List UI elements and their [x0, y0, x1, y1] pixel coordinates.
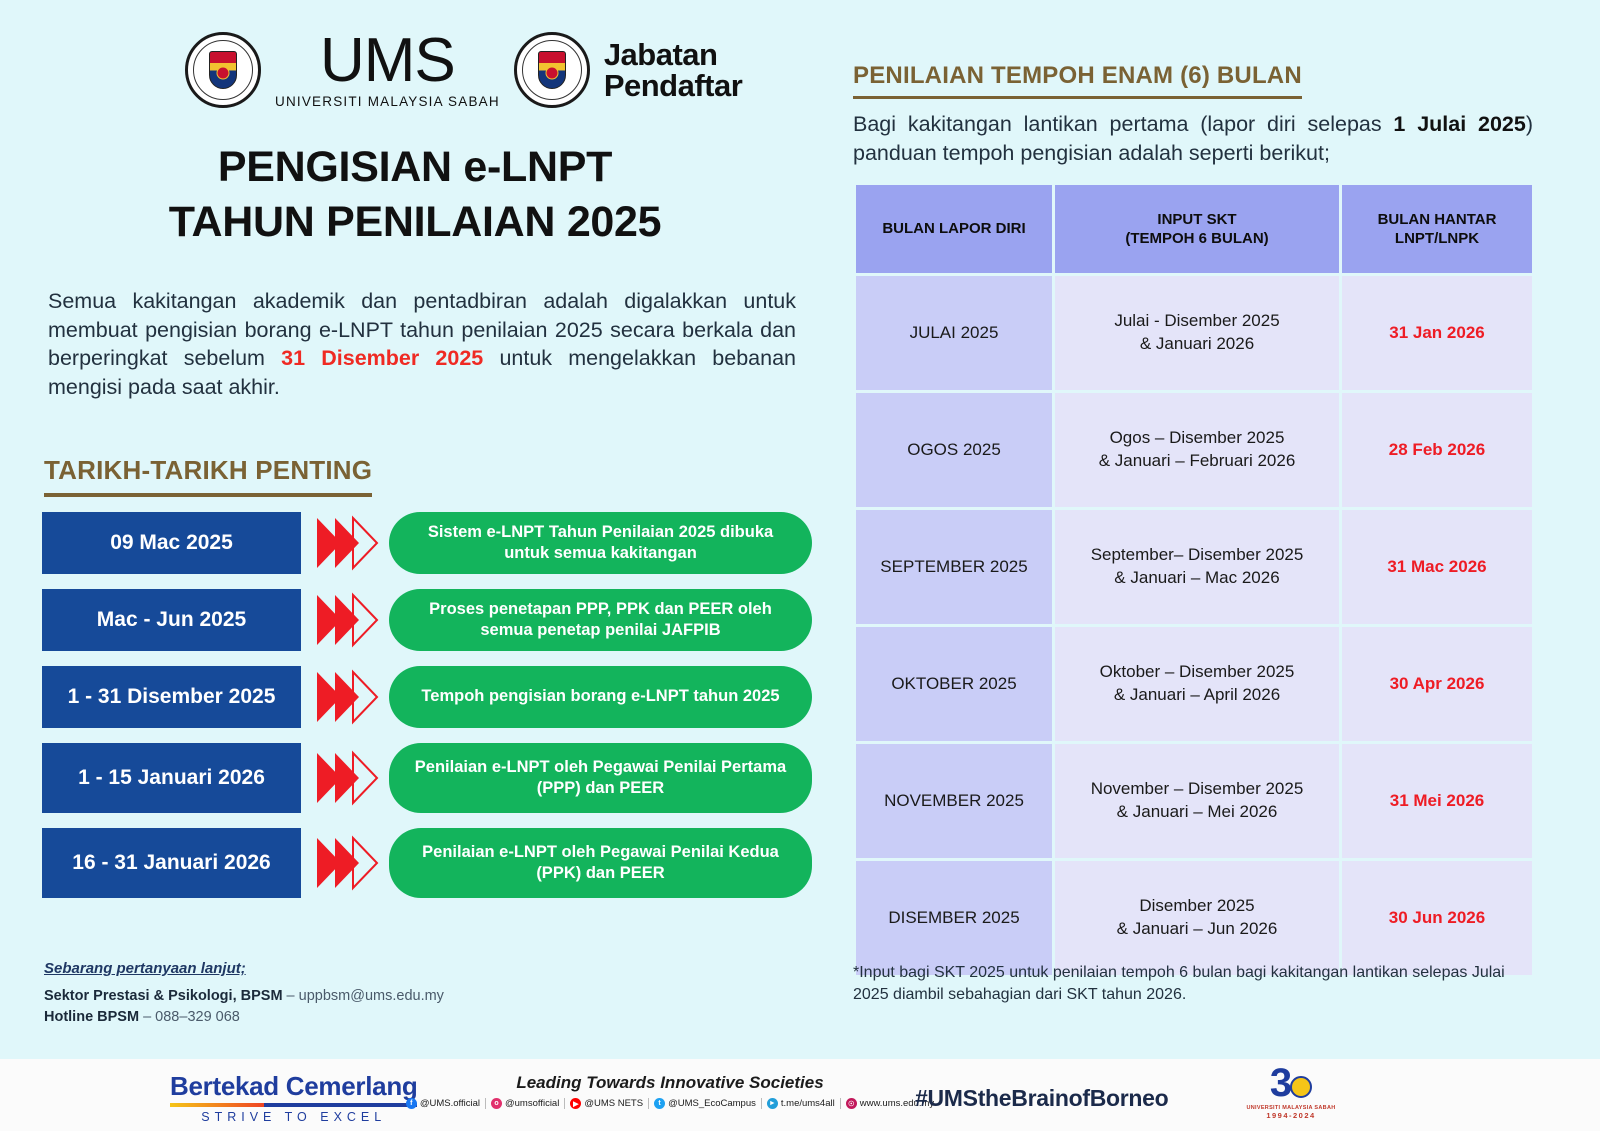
cell-skt-line2: & Januari – Mac 2026: [1065, 567, 1329, 590]
table-header: BULAN LAPOR DIRI INPUT SKT (TEMPOH 6 BUL…: [856, 185, 1532, 273]
intro-highlight-date: 31 Disember 2025: [281, 346, 483, 370]
ums-crest-icon: [185, 32, 261, 108]
timeline-row: 1 - 31 Disember 2025 Tempoh pengisian bo…: [42, 666, 812, 728]
table-row: DISEMBER 2025 Disember 2025 & Januari – …: [856, 861, 1532, 975]
social-item-instagram[interactable]: o @umsofficial: [486, 1098, 565, 1109]
chevron-arrow-icon: [315, 592, 383, 648]
table-row: SEPTEMBER 2025 September– Disember 2025 …: [856, 510, 1532, 624]
website-icon: ☉: [846, 1098, 857, 1109]
jabatan-wordmark: Jabatan Pendaftar: [604, 39, 742, 101]
social-item-youtube[interactable]: ▶ @UMS NETS: [565, 1098, 649, 1109]
cell-skt-line2: & Januari 2026: [1065, 333, 1329, 356]
cell-bulan-lapor: OKTOBER 2025: [856, 627, 1052, 741]
cell-bulan-lapor: NOVEMBER 2025: [856, 744, 1052, 858]
cell-skt-line2: & Januari – April 2026: [1065, 684, 1329, 707]
globe-icon: [1290, 1076, 1312, 1098]
cell-skt-line1: November – Disember 2025: [1065, 778, 1329, 801]
cell-bulan-lapor: JULAI 2025: [856, 276, 1052, 390]
table-header-cell-input-skt: INPUT SKT (TEMPOH 6 BULAN): [1055, 185, 1339, 273]
timeline-date-box: 16 - 31 Januari 2026: [42, 828, 301, 898]
timeline-date-box: 1 - 15 Januari 2026: [42, 743, 301, 813]
bertekad-rule: [170, 1103, 417, 1107]
cell-bulan-hantar: 30 Jun 2026: [1342, 861, 1532, 975]
hashtag-text: #UMStheBrainofBorneo: [915, 1085, 1168, 1112]
instagram-icon: o: [491, 1098, 502, 1109]
header-line1: INPUT SKT: [1061, 210, 1333, 230]
timeline-desc-pill: Tempoh pengisian borang e-LNPT tahun 202…: [389, 666, 812, 728]
jabatan-line1: Jabatan: [604, 39, 742, 70]
social-item-twitter[interactable]: t @UMS_EcoCampus: [649, 1098, 762, 1109]
intro-paragraph: Semua kakitangan akademik dan pentadbira…: [48, 287, 796, 401]
crest-shield-icon: [209, 51, 237, 89]
table-header-cell-bulan-lapor: BULAN LAPOR DIRI: [856, 185, 1052, 273]
anniversary-years: 1994-2024: [1245, 1111, 1337, 1120]
social-label: @UMS_EcoCampus: [668, 1098, 756, 1109]
crest-shield-icon: [538, 51, 566, 89]
table-row: NOVEMBER 2025 November – Disember 2025 &…: [856, 744, 1532, 858]
timeline-heading: TARIKH-TARIKH PENTING: [44, 455, 372, 497]
table-row: OGOS 2025 Ogos – Disember 2025 & Januari…: [856, 393, 1532, 507]
timeline-date-box: 09 Mac 2025: [42, 512, 301, 574]
cell-bulan-hantar: 31 Mei 2026: [1342, 744, 1532, 858]
timeline-desc-pill: Penilaian e-LNPT oleh Pegawai Penilai Pe…: [389, 743, 812, 813]
cell-skt-line1: September– Disember 2025: [1065, 544, 1329, 567]
leading-societies-block: Leading Towards Innovative Societies f @…: [470, 1073, 870, 1109]
table-header-row: BULAN LAPOR DIRI INPUT SKT (TEMPOH 6 BUL…: [856, 185, 1532, 273]
chevron-arrow-icon: [315, 835, 383, 891]
cell-skt-line1: Disember 2025: [1065, 895, 1329, 918]
contact-dept: Sektor Prestasi & Psikologi, BPSM: [44, 988, 283, 1004]
chevron-arrow-icon: [315, 750, 383, 806]
timeline-row: 16 - 31 Januari 2026 Penilaian e-LNPT ol…: [42, 828, 812, 898]
cell-skt-line2: & Januari – Februari 2026: [1065, 450, 1329, 473]
cell-skt-line1: Julai - Disember 2025: [1065, 310, 1329, 333]
right-panel-intro: Bagi kakitangan lantikan pertama (lapor …: [853, 110, 1533, 168]
penilaian-table: BULAN LAPOR DIRI INPUT SKT (TEMPOH 6 BUL…: [853, 182, 1535, 978]
social-label: @UMS NETS: [584, 1098, 643, 1109]
ums-fullname: UNIVERSITI MALAYSIA SABAH: [275, 94, 500, 109]
cell-bulan-hantar: 31 Mac 2026: [1342, 510, 1532, 624]
timeline-row: 09 Mac 2025 Sistem e-LNPT Tahun Penilaia…: [42, 512, 812, 574]
telegram-icon: ►: [767, 1098, 778, 1109]
cell-skt-line2: & Januari – Jun 2026: [1065, 918, 1329, 941]
bertekad-main-text: Bertekad Cemerlang: [170, 1071, 417, 1102]
header-line2: (TEMPOH 6 BULAN): [1061, 229, 1333, 249]
right-intro-bold-date: 1 Julai 2025: [1393, 112, 1525, 136]
jabatan-crest-icon: [514, 32, 590, 108]
jabatan-line2: Pendaftar: [604, 70, 742, 101]
cell-input-skt: September– Disember 2025 & Januari – Mac…: [1055, 510, 1339, 624]
cell-input-skt: November – Disember 2025 & Januari – Mei…: [1055, 744, 1339, 858]
timeline-list: 09 Mac 2025 Sistem e-LNPT Tahun Penilaia…: [42, 512, 812, 913]
cell-bulan-lapor: SEPTEMBER 2025: [856, 510, 1052, 624]
header-logos: UMS UNIVERSITI MALAYSIA SABAH Jabatan Pe…: [185, 32, 742, 109]
header-line1: BULAN HANTAR: [1348, 210, 1526, 230]
cell-skt-line1: Oktober – Disember 2025: [1065, 661, 1329, 684]
timeline-desc-pill: Proses penetapan PPP, PPK dan PEER oleh …: [389, 589, 812, 651]
header-line2: LNPT/LNPK: [1348, 229, 1526, 249]
contact-hotline-label: Hotline BPSM: [44, 1009, 139, 1025]
page-title: PENGISIAN e-LNPT TAHUN PENILAIAN 2025: [0, 140, 830, 250]
infographic-page: UMS UNIVERSITI MALAYSIA SABAH Jabatan Pe…: [0, 0, 1600, 1131]
right-intro-before: Bagi kakitangan lantikan pertama (lapor …: [853, 112, 1393, 136]
cell-input-skt: Disember 2025 & Januari – Jun 2026: [1055, 861, 1339, 975]
table-row: JULAI 2025 Julai - Disember 2025 & Janua…: [856, 276, 1532, 390]
chevron-arrow-icon: [315, 515, 383, 571]
contact-block: Sebarang pertanyaan lanjut; Sektor Prest…: [44, 960, 544, 1028]
cell-skt-line1: Ogos – Disember 2025: [1065, 427, 1329, 450]
cell-skt-line2: & Januari – Mei 2026: [1065, 801, 1329, 824]
contact-line-email: Sektor Prestasi & Psikologi, BPSM – uppb…: [44, 986, 544, 1007]
table-footnote: *Input bagi SKT 2025 untuk penilaian tem…: [853, 962, 1543, 1007]
chevron-arrow-icon: [315, 669, 383, 725]
timeline-date-box: Mac - Jun 2025: [42, 589, 301, 651]
timeline-row: Mac - Jun 2025 Proses penetapan PPP, PPK…: [42, 589, 812, 651]
page-title-line1: PENGISIAN e-LNPT: [0, 140, 830, 195]
timeline-row: 1 - 15 Januari 2026 Penilaian e-LNPT ole…: [42, 743, 812, 813]
timeline-desc-pill: Sistem e-LNPT Tahun Penilaian 2025 dibuk…: [389, 512, 812, 574]
table-header-cell-bulan-hantar: BULAN HANTAR LNPT/LNPK: [1342, 185, 1532, 273]
table-row: OKTOBER 2025 Oktober – Disember 2025 & J…: [856, 627, 1532, 741]
twitter-icon: t: [654, 1098, 665, 1109]
contact-hotline-number: – 088–329 068: [139, 1009, 240, 1025]
contact-email: – uppbsm@ums.edu.my: [283, 988, 444, 1004]
cell-bulan-hantar: 31 Jan 2026: [1342, 276, 1532, 390]
social-label: @UMS.official: [420, 1098, 480, 1109]
cell-bulan-lapor: DISEMBER 2025: [856, 861, 1052, 975]
leading-title: Leading Towards Innovative Societies: [470, 1073, 870, 1093]
timeline-desc-pill: Penilaian e-LNPT oleh Pegawai Penilai Ke…: [389, 828, 812, 898]
youtube-icon: ▶: [570, 1098, 581, 1109]
right-panel-heading: PENILAIAN TEMPOH ENAM (6) BULAN: [853, 62, 1302, 99]
facebook-icon: f: [406, 1098, 417, 1109]
contact-line-hotline: Hotline BPSM – 088–329 068: [44, 1007, 544, 1028]
timeline-date-box: 1 - 31 Disember 2025: [42, 666, 301, 728]
cell-bulan-lapor: OGOS 2025: [856, 393, 1052, 507]
cell-bulan-hantar: 30 Apr 2026: [1342, 627, 1532, 741]
table-body: JULAI 2025 Julai - Disember 2025 & Janua…: [856, 276, 1532, 975]
contact-heading: Sebarang pertanyaan lanjut;: [44, 960, 544, 977]
social-item-facebook[interactable]: f @UMS.official: [401, 1098, 486, 1109]
anniversary-logo: 3 UNIVERSITI MALAYSIA SABAH 1994-2024: [1245, 1063, 1337, 1120]
cell-input-skt: Oktober – Disember 2025 & Januari – Apri…: [1055, 627, 1339, 741]
bertekad-sub-text: STRIVE TO EXCEL: [201, 1110, 386, 1124]
cell-input-skt: Ogos – Disember 2025 & Januari – Februar…: [1055, 393, 1339, 507]
social-links-row: f @UMS.official o @umsofficial ▶ @UMS NE…: [470, 1098, 870, 1109]
social-label: @umsofficial: [505, 1098, 559, 1109]
social-label: t.me/ums4all: [781, 1098, 835, 1109]
cell-input-skt: Julai - Disember 2025 & Januari 2026: [1055, 276, 1339, 390]
ums-wordmark: UMS UNIVERSITI MALAYSIA SABAH: [275, 32, 500, 109]
page-title-line2: TAHUN PENILAIAN 2025: [0, 195, 830, 250]
footer-bar: Bertekad Cemerlang STRIVE TO EXCEL Leadi…: [0, 1059, 1600, 1131]
header-line1: BULAN LAPOR DIRI: [862, 219, 1046, 239]
bertekad-cemerlang-logo: Bertekad Cemerlang STRIVE TO EXCEL: [170, 1071, 417, 1124]
cell-bulan-hantar: 28 Feb 2026: [1342, 393, 1532, 507]
social-item-telegram[interactable]: ► t.me/ums4all: [762, 1098, 841, 1109]
ums-acronym: UMS: [320, 32, 455, 91]
anniversary-number: 3: [1270, 1063, 1312, 1103]
